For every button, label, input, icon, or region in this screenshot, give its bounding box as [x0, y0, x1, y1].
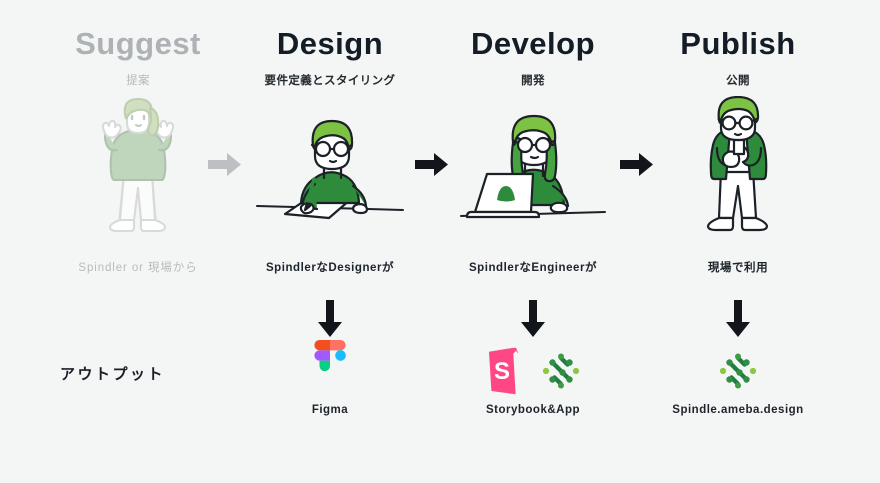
step-subtitle-develop: 開発: [433, 72, 633, 88]
figma-logo-icon: [309, 340, 351, 402]
step-subtitle-publish: 公開: [638, 72, 838, 88]
output-row-label: アウトプット: [60, 363, 165, 384]
svg-text:S: S: [494, 358, 510, 385]
step-subtitle-suggest: 提案: [38, 72, 238, 88]
workflow-diagram: Suggest 提案: [0, 0, 880, 483]
output-logos-design: [230, 345, 430, 397]
arrow-down-publish: [722, 300, 754, 338]
step-actor-suggest: Spindler or 現場から: [38, 259, 238, 275]
illustration-design: [230, 96, 430, 236]
illustration-develop: [433, 96, 633, 236]
step-subtitle-design: 要件定義とスタイリング: [230, 72, 430, 88]
step-title-design: Design: [230, 27, 430, 61]
spindle-logo-icon: [541, 351, 581, 391]
step-actor-design: SpindlerなDesignerが: [230, 259, 430, 275]
arrow-down-design: [314, 300, 346, 338]
spindle-logo-icon: [718, 351, 758, 391]
arrow-right-design-to-develop: [415, 150, 449, 180]
step-column-develop: Develop 開発: [433, 0, 633, 483]
step-column-design: Design 要件定義とスタイリング: [230, 0, 430, 483]
step-column-publish: Publish 公開: [638, 0, 838, 483]
person-laptop-icon: [457, 104, 609, 236]
arrow-right-develop-to-publish: [620, 150, 654, 180]
arrow-down-develop: [517, 300, 549, 338]
step-actor-develop: SpindlerなEngineerが: [433, 259, 633, 275]
output-name-develop: Storybook&App: [413, 404, 653, 416]
output-logos-publish: [638, 345, 838, 397]
step-title-develop: Develop: [433, 27, 633, 61]
storybook-logo-icon: S: [485, 347, 525, 395]
person-sketching-icon: [255, 106, 405, 236]
step-actor-publish: 現場で利用: [638, 259, 838, 275]
person-standing-phone-icon: [690, 96, 786, 236]
step-title-publish: Publish: [638, 27, 838, 61]
step-title-suggest: Suggest: [38, 27, 238, 61]
person-shrugging-icon: [92, 96, 184, 236]
arrow-right-suggest-to-design: [208, 150, 242, 180]
output-name-publish: Spindle.ameba.design: [618, 404, 858, 416]
illustration-publish: [638, 96, 838, 236]
step-column-suggest: Suggest 提案: [38, 0, 238, 483]
output-logos-develop: S: [433, 345, 633, 397]
